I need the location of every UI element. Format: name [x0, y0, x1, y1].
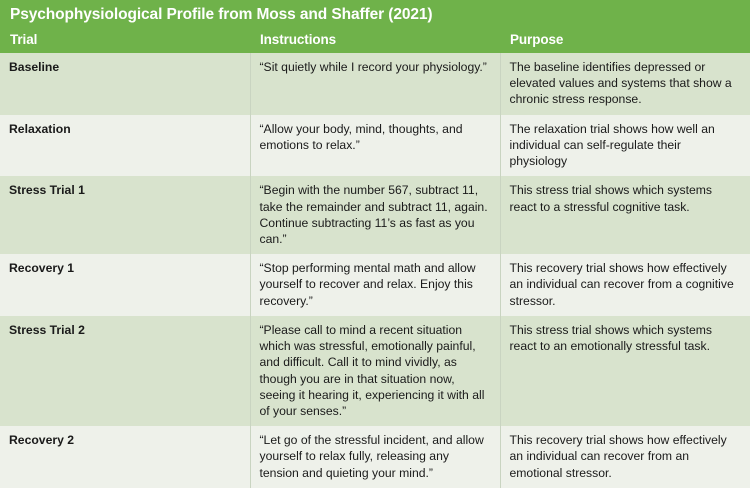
cell-instructions: “Allow your body, mind, thoughts, and em… [250, 115, 500, 177]
cell-purpose: This recovery trial shows how effectivel… [500, 426, 750, 488]
cell-instructions: “Begin with the number 567, subtract 11,… [250, 176, 500, 254]
psychophysiological-profile-table: Psychophysiological Profile from Moss an… [0, 0, 750, 488]
table-title-cell: Psychophysiological Profile from Moss an… [0, 0, 750, 29]
cell-trial: Relaxation [0, 115, 250, 177]
cell-instructions: “Sit quietly while I record your physiol… [250, 53, 500, 115]
cell-trial: Baseline [0, 53, 250, 115]
table-body: Baseline “Sit quietly while I record you… [0, 53, 750, 488]
column-header-instructions: Instructions [250, 29, 500, 53]
cell-purpose: The baseline identifies depressed or ele… [500, 53, 750, 115]
cell-instructions: “Stop performing mental math and allow y… [250, 254, 500, 316]
table-row: Relaxation “Allow your body, mind, thoug… [0, 115, 750, 177]
table-row: Recovery 1 “Stop performing mental math … [0, 254, 750, 316]
table-title-row: Psychophysiological Profile from Moss an… [0, 0, 750, 29]
table-head: Psychophysiological Profile from Moss an… [0, 0, 750, 53]
cell-trial: Recovery 2 [0, 426, 250, 488]
table-row: Baseline “Sit quietly while I record you… [0, 53, 750, 115]
table-title: Psychophysiological Profile from Moss an… [10, 6, 432, 23]
table-column-header-row: Trial Instructions Purpose [0, 29, 750, 53]
cell-instructions: “Let go of the stressful incident, and a… [250, 426, 500, 488]
cell-instructions: “Please call to mind a recent situation … [250, 316, 500, 426]
column-header-trial: Trial [0, 29, 250, 53]
cell-purpose: This stress trial shows which systems re… [500, 316, 750, 426]
cell-trial: Stress Trial 2 [0, 316, 250, 426]
column-header-purpose: Purpose [500, 29, 750, 53]
psychophysiological-profile-table-container: Psychophysiological Profile from Moss an… [0, 0, 750, 419]
table-row: Recovery 2 “Let go of the stressful inci… [0, 426, 750, 488]
cell-trial: Stress Trial 1 [0, 176, 250, 254]
table-row: Stress Trial 2 “Please call to mind a re… [0, 316, 750, 426]
cell-purpose: This recovery trial shows how effectivel… [500, 254, 750, 316]
table-row: Stress Trial 1 “Begin with the number 56… [0, 176, 750, 254]
cell-purpose: The relaxation trial shows how well an i… [500, 115, 750, 177]
cell-trial: Recovery 1 [0, 254, 250, 316]
cell-purpose: This stress trial shows which systems re… [500, 176, 750, 254]
